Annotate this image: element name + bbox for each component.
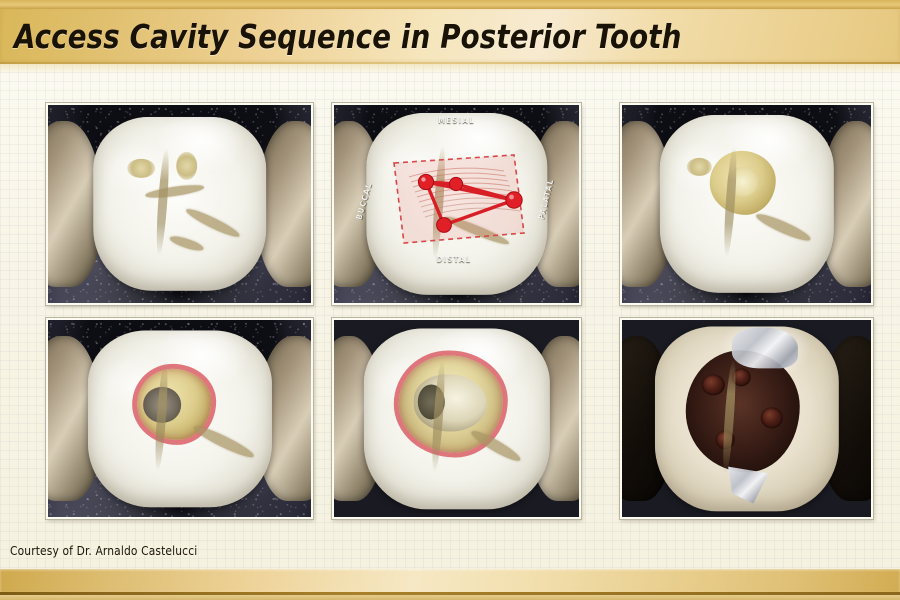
photo-intact-occlusal <box>48 105 311 303</box>
softened-dentin <box>143 387 181 422</box>
page-title: Access Cavity Sequence in Posterior Toot… <box>14 17 682 56</box>
enamel-stain-b <box>176 152 197 180</box>
anatomy-label-mesial: MESIAL <box>438 116 475 125</box>
metallic-reflection-bottom <box>728 467 769 504</box>
photo-chamber-deroofed <box>622 320 871 517</box>
banner-fade <box>0 64 900 74</box>
initial-access-opening <box>710 151 776 215</box>
molar-crown <box>363 328 549 509</box>
fissure-central <box>144 183 204 200</box>
canal-orifice-disto-palatal <box>761 407 783 428</box>
canal-orifice-mesio-palatal <box>731 368 750 386</box>
fissure-disto-buccal <box>754 210 812 244</box>
panel-2[interactable]: MESIAL DISTAL BUCCAL PALATAL <box>332 103 581 305</box>
panel-5[interactable] <box>332 318 581 519</box>
panel-4[interactable] <box>46 318 313 519</box>
canal-orifice-mesio-buccal <box>702 374 725 395</box>
necrotic-tissue <box>418 384 445 419</box>
molar-crown <box>654 326 838 511</box>
image-grid: MESIAL DISTAL BUCCAL PALATAL <box>46 103 869 515</box>
enamel-stain-a <box>687 158 711 176</box>
photo-caries-exposed <box>48 320 311 517</box>
footer-banner <box>0 569 900 600</box>
credit-line: Courtesy of Dr. Arnaldo Castelucci <box>10 543 197 558</box>
slide-canvas: Access Cavity Sequence in Posterior Toot… <box>0 0 900 600</box>
anatomy-label-distal: DISTAL <box>437 255 472 264</box>
fissure-disto-buccal <box>192 422 256 461</box>
panel-3[interactable] <box>620 103 873 305</box>
photo-cavity-widened <box>334 320 579 517</box>
footer-under-band <box>0 595 900 600</box>
molar-crown <box>659 115 833 293</box>
panel-1[interactable] <box>46 103 313 305</box>
access-floor <box>727 167 759 197</box>
canal-orifice-disto-buccal <box>715 431 734 449</box>
molar-crown <box>87 330 271 507</box>
metallic-reflection-top <box>732 328 798 369</box>
access-outline-diagram: MESIAL DISTAL BUCCAL PALATAL <box>334 105 579 303</box>
fissure-disto-buccal <box>184 206 242 241</box>
photo-access-outline: MESIAL DISTAL BUCCAL PALATAL <box>334 105 579 303</box>
photo-initial-penetration <box>622 105 871 303</box>
molar-crown <box>93 117 267 291</box>
fissure-distal <box>169 234 205 253</box>
enamel-stain-a <box>127 159 155 178</box>
footer-gold-band <box>0 569 900 592</box>
banner-top-strip <box>0 0 900 9</box>
panel-6[interactable] <box>620 318 873 519</box>
